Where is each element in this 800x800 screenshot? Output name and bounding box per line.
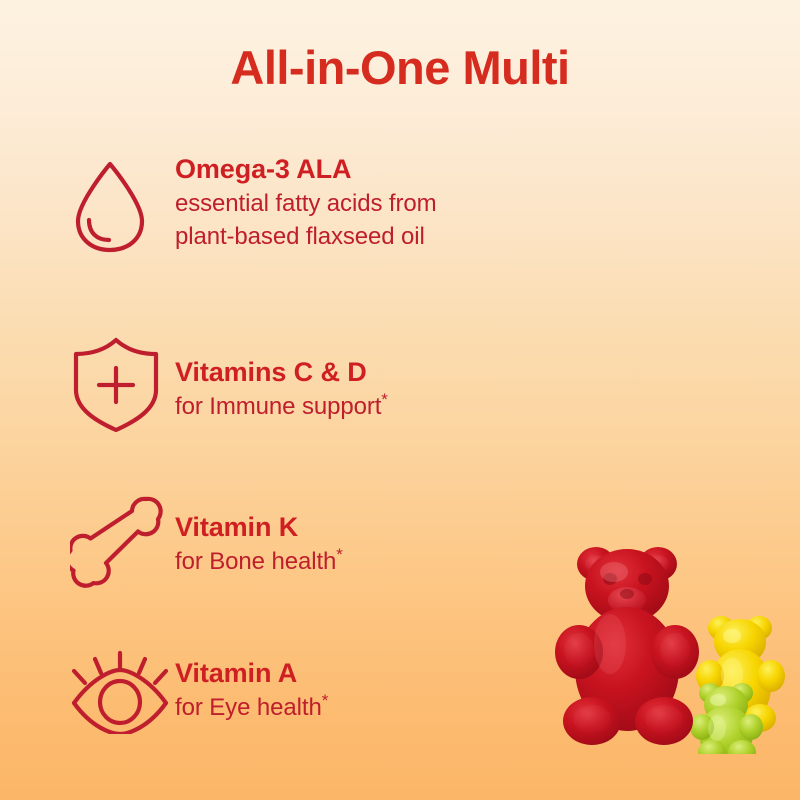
red-gummy-bear — [555, 547, 699, 745]
asterisk-marker: * — [322, 691, 329, 710]
green-gummy-bear — [690, 683, 763, 754]
feature-row-vitamin-a: Vitamin A for Eye health* — [70, 640, 630, 734]
feature-row-vitamin-k: Vitamin K for Bone health* — [70, 490, 630, 588]
page-title: All-in-One Multi — [0, 40, 800, 95]
droplet-icon — [70, 152, 175, 256]
feature-description-line-1: for Immune support* — [175, 392, 630, 422]
feature-description-text: for Immune support — [175, 393, 381, 420]
feature-text-omega-3: Omega-3 ALA essential fatty acids from p… — [175, 152, 630, 252]
shield-plus-icon — [70, 335, 175, 433]
feature-text-vitamins-c-d: Vitamins C & D for Immune support* — [175, 335, 630, 422]
feature-description-text: for Eye health — [175, 694, 322, 721]
feature-row-vitamins-c-d: Vitamins C & D for Immune support* — [70, 335, 630, 433]
gummy-bears-illustration — [552, 524, 800, 754]
feature-description-line-1: essential fatty acids from — [175, 189, 630, 219]
feature-description-text: for Bone health — [175, 548, 336, 575]
feature-row-omega-3: Omega-3 ALA essential fatty acids from p… — [70, 152, 630, 256]
product-benefits-infographic: All-in-One Multi Omega-3 ALA essential f… — [0, 0, 800, 800]
feature-description-line-2: plant-based flaxseed oil — [175, 222, 630, 252]
eye-icon — [70, 640, 175, 734]
feature-heading: Vitamins C & D — [175, 357, 630, 389]
asterisk-marker: * — [336, 545, 343, 564]
feature-heading: Omega-3 ALA — [175, 154, 630, 186]
bone-icon — [70, 490, 175, 588]
asterisk-marker: * — [381, 390, 388, 409]
